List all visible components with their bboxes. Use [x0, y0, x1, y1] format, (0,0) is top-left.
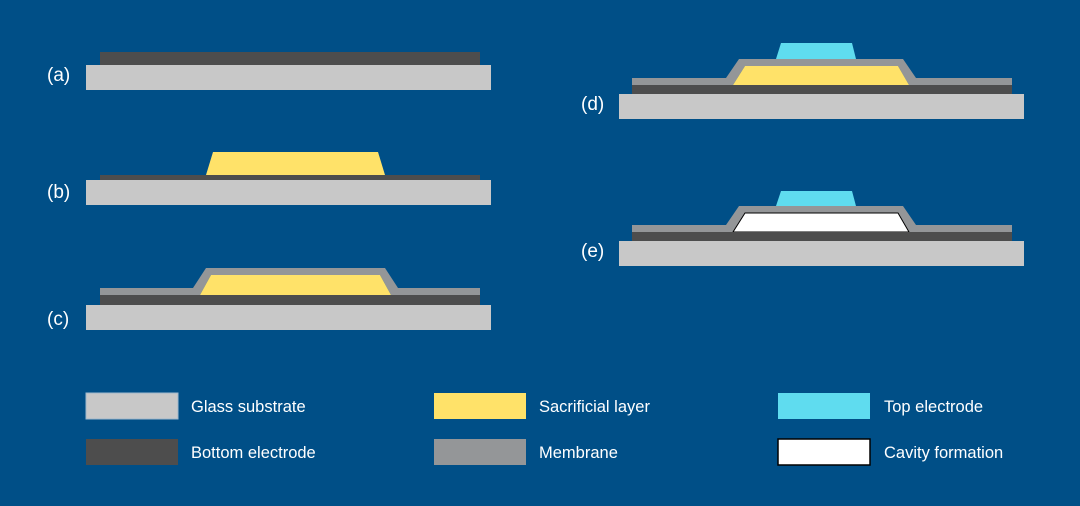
step-d-top-electrode — [776, 43, 856, 59]
legend-label-bottom-electrode: Bottom electrode — [191, 444, 316, 462]
step-c-label: (c) — [47, 309, 69, 330]
step-b-glass-substrate — [86, 180, 491, 205]
step-c-sacrificial-layer — [200, 275, 391, 295]
step-a-glass-substrate — [86, 65, 491, 90]
figure-canvas: (a) (b) (c) (d) — [0, 0, 1080, 506]
cavity-formation-swatch — [778, 439, 870, 465]
step-e-top-electrode — [776, 191, 856, 206]
step-b-label: (b) — [47, 182, 70, 203]
step-d-glass-substrate — [619, 94, 1024, 119]
glass-substrate-swatch — [86, 393, 178, 419]
top-electrode-swatch — [778, 393, 870, 419]
step-b-sacrificial-layer — [206, 152, 385, 175]
membrane-swatch — [434, 439, 526, 465]
legend-label-sacrificial-layer: Sacrificial layer — [539, 398, 650, 416]
step-a-bottom-electrode — [100, 52, 480, 65]
sacrificial-layer-swatch — [434, 393, 526, 419]
step-a-group: (a) — [47, 52, 491, 90]
step-d-sacrificial-layer — [733, 66, 909, 85]
legend-label-cavity-formation: Cavity formation — [884, 444, 1003, 462]
process-flow-diagram: (a) (b) (c) (d) — [0, 0, 1080, 506]
step-e-glass-substrate — [619, 241, 1024, 266]
bottom-electrode-swatch — [86, 439, 178, 465]
step-c-glass-substrate — [86, 305, 491, 330]
legend-label-membrane: Membrane — [539, 444, 618, 462]
legend-label-glass-substrate: Glass substrate — [191, 398, 306, 416]
legend-label-top-electrode: Top electrode — [884, 398, 983, 416]
step-e-label: (e) — [581, 241, 604, 262]
step-a-label: (a) — [47, 65, 70, 86]
step-d-label: (d) — [581, 94, 604, 115]
step-e-cavity-formation — [733, 213, 909, 232]
